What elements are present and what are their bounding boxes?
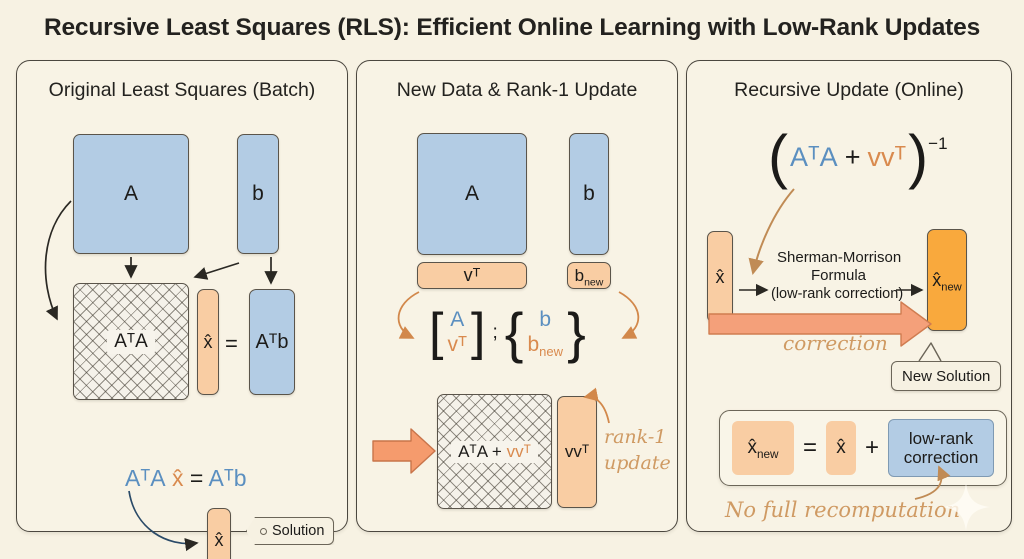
result-plus: + [865, 434, 879, 462]
paren-close: ) [906, 136, 928, 178]
rank1-vvT-label: vvᵀ [565, 442, 589, 462]
rank1-annotation-line2: update [604, 452, 671, 474]
solution-x-label: x̂ [215, 530, 224, 551]
panel-3-title: Recursive Update (Online) [687, 79, 1011, 102]
panel-new-data-rank1: New Data & Rank-1 Update A b vᵀ bnew [ A… [356, 60, 678, 532]
inverse-plus: + [838, 142, 868, 173]
vector-b-block-2: b [569, 133, 609, 255]
inverse-term-ata: AᵀA [788, 142, 838, 173]
panel-2-title: New Data & Rank-1 Update [357, 79, 677, 102]
normal-matrix-block: AᵀA [73, 283, 189, 400]
eq-atb: Aᵀb [208, 465, 246, 491]
x-old-block: x̂ [707, 231, 733, 323]
tag-dot-icon [260, 528, 267, 535]
rhs-label: Aᵀb [255, 331, 288, 354]
panel-recursive-update: Recursive Update (Online) ( AᵀA + vvᵀ ) … [686, 60, 1012, 532]
x-old-label: x̂ [716, 267, 725, 288]
inverse-exponent: −1 [928, 134, 947, 154]
vector-b-label-2: b [583, 182, 595, 206]
new-value-bnew-block: bnew [567, 262, 611, 289]
vector-b-label: b [252, 182, 264, 206]
sparkle-icon [940, 481, 992, 533]
solution-x-block: x̂ [207, 508, 231, 559]
sherman-morrison-line2: Formula [811, 267, 866, 284]
rhs-block: Aᵀb [249, 289, 295, 395]
result-x-new-chip: x̂new [732, 421, 794, 475]
eq-xhat: x̂ [172, 465, 184, 491]
stacked-bnew: bnew [527, 333, 563, 358]
right-brace-open: { [505, 313, 524, 353]
solution-callout-label: Solution [272, 523, 324, 539]
stacked-vT: vᵀ [447, 333, 467, 358]
footer-note: No full recomputation [725, 498, 960, 522]
updated-matrix-block: AᵀA + vvᵀ [437, 394, 552, 509]
new-solution-callout-label: New Solution [902, 368, 990, 385]
left-bracket-open: [ [429, 313, 443, 352]
eq-equals: = [190, 465, 203, 491]
new-row-vT-block: vᵀ [417, 262, 527, 289]
sherman-morrison-line3: (low-rank correction) [771, 286, 903, 302]
rank1-annotation-line1: rank-1 [604, 426, 666, 448]
correction-annotation: correction [783, 331, 888, 355]
equals-sign: = [225, 331, 238, 357]
updated-matrix-label: AᵀA + vvᵀ [451, 441, 538, 463]
result-correction-chip: low-rank correction [888, 419, 994, 477]
page-title: Recursive Least Squares (RLS): Efficient… [0, 14, 1024, 42]
stacked-expression: [ A vᵀ ] ; { b bnew } [429, 308, 586, 358]
matrix-A-label-2: A [465, 182, 479, 206]
inverse-term-vvt: vvᵀ [867, 142, 906, 173]
result-x-chip: x̂ [826, 421, 856, 475]
solution-callout: Solution [246, 517, 334, 545]
normal-matrix-label: AᵀA [107, 330, 155, 354]
x-new-block: x̂new [927, 229, 967, 331]
left-bracket-close: ] [471, 313, 485, 352]
right-brace-close: } [567, 313, 586, 353]
rank1-vvT-block: vvᵀ [557, 396, 597, 508]
matrix-A-block: A [73, 134, 189, 254]
result-equation-frame: x̂new = x̂ + low-rank correction [719, 410, 1007, 486]
paren-open: ( [768, 136, 788, 178]
vector-b-block: b [237, 134, 279, 254]
result-x-new-label: x̂new [747, 437, 778, 459]
new-solution-callout: New Solution [891, 361, 1001, 391]
panel-original-least-squares: Original Least Squares (Batch) A b AᵀA x… [16, 60, 348, 532]
new-row-vT-label: vᵀ [464, 265, 481, 286]
result-correction-line1: low-rank [909, 429, 973, 448]
sherman-morrison-line1: Sherman-Morrison [777, 249, 901, 266]
x-new-label: x̂new [932, 270, 961, 291]
result-equals: = [803, 434, 817, 462]
stacked-b: b [539, 308, 551, 333]
normal-equation: AᵀA x̂ = Aᵀb [125, 465, 247, 492]
diagram-canvas: Recursive Least Squares (RLS): Efficient… [0, 0, 1024, 559]
matrix-A-label: A [124, 182, 138, 206]
eq-ata: AᵀA [125, 465, 166, 491]
matrix-A-block-2: A [417, 133, 527, 255]
unknown-x-block: x̂ [197, 289, 219, 395]
result-correction-line2: correction [904, 448, 979, 467]
expression-separator: ; [486, 322, 505, 344]
result-x-label: x̂ [836, 437, 846, 459]
unknown-x-label: x̂ [204, 332, 213, 353]
stacked-A: A [450, 308, 464, 333]
panel-1-title: Original Least Squares (Batch) [17, 79, 347, 102]
new-value-bnew-label: bnew [575, 266, 604, 286]
inverse-expression: ( AᵀA + vvᵀ ) −1 [768, 136, 948, 178]
